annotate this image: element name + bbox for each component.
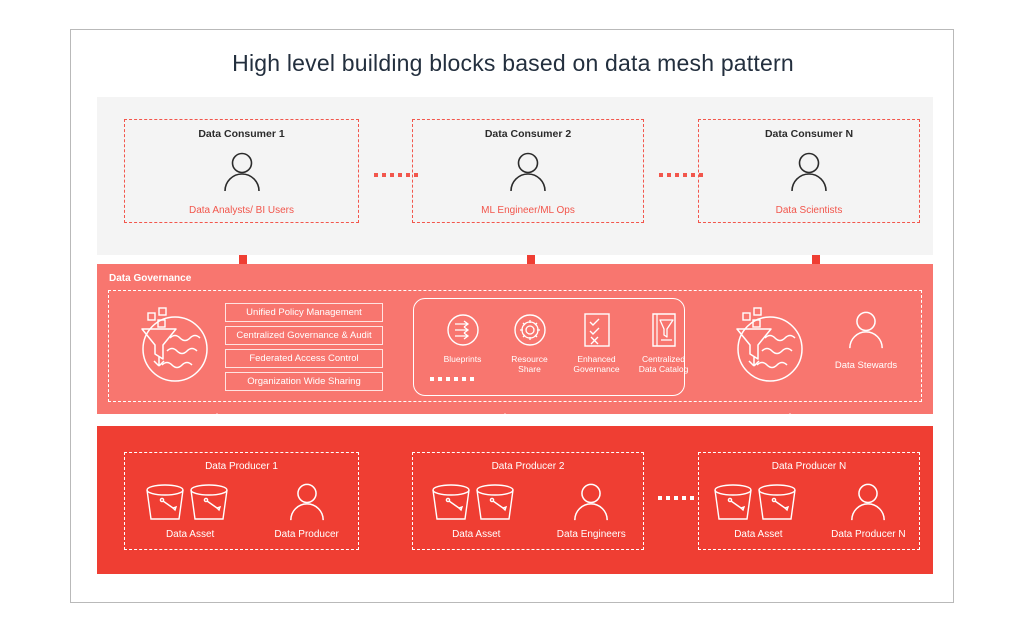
person-icon — [507, 150, 549, 194]
person-icon — [831, 481, 905, 527]
service-data-catalog[interactable]: Centralized Data Catalog — [637, 309, 690, 374]
bucket-icon — [712, 481, 804, 527]
data-lake-icon — [134, 305, 212, 387]
data-governance-band: Data Governance Unified Policy Managemen… — [97, 264, 933, 414]
dotted-connector-icon — [659, 173, 703, 177]
bucket-icon — [144, 481, 236, 527]
consumer-title: Data Consumer 2 — [413, 128, 643, 140]
data-steward-label: Data Stewards — [823, 360, 909, 371]
data-consumer-box-2[interactable]: Data Consumer 2 ML Engineer/ML Ops — [412, 119, 644, 223]
governance-inner-panel: Unified Policy Management Centralized Go… — [108, 290, 922, 402]
data-owner-label: Data Producer N — [831, 529, 905, 540]
person-icon — [221, 150, 263, 194]
data-producer-box-1[interactable]: Data Producer 1 — [124, 452, 359, 550]
person-icon — [274, 481, 338, 527]
policy-pill-list: Unified Policy Management Centralized Go… — [225, 303, 383, 395]
governance-services-card: Blueprints — [413, 298, 685, 396]
data-consumer-box-1[interactable]: Data Consumer 1 Data Analysts/ BI Users — [124, 119, 359, 223]
checklist-icon — [570, 309, 623, 351]
diagram-canvas: High level building blocks based on data… — [70, 29, 954, 603]
governance-band-title: Data Governance — [109, 273, 191, 284]
service-enhanced-governance[interactable]: Enhanced Governance — [570, 309, 623, 374]
service-blueprints[interactable]: Blueprints — [436, 309, 489, 374]
policy-pill[interactable]: Federated Access Control — [225, 349, 383, 368]
person-icon — [846, 309, 886, 351]
person-icon — [557, 481, 626, 527]
service-label: Enhanced Governance — [570, 354, 623, 374]
data-producer-band: Data Producer 1 — [97, 426, 933, 574]
data-owner-group[interactable]: Data Engineers — [557, 481, 626, 540]
policy-pill[interactable]: Centralized Governance & Audit — [225, 326, 383, 345]
dotted-more-icon — [430, 377, 474, 381]
service-label: Resource Share — [503, 354, 556, 374]
producer-title: Data Producer 1 — [125, 461, 358, 472]
gear-icon — [503, 309, 556, 351]
consumer-title: Data Consumer N — [699, 128, 919, 140]
data-producer-box-n[interactable]: Data Producer N — [698, 452, 920, 550]
consumer-label: Data Analysts/ BI Users — [125, 205, 358, 216]
consumer-title: Data Consumer 1 — [125, 128, 358, 140]
data-asset-group[interactable]: Data Asset — [712, 481, 804, 540]
producer-title: Data Producer 2 — [413, 461, 643, 472]
data-consumer-band: Data Consumer 1 Data Analysts/ BI Users … — [97, 97, 933, 255]
consumer-label: ML Engineer/ML Ops — [413, 205, 643, 216]
person-icon — [788, 150, 830, 194]
service-icon-row: Blueprints — [436, 309, 690, 374]
data-asset-label: Data Asset — [430, 529, 522, 540]
data-steward-group[interactable]: Data Stewards — [823, 309, 909, 371]
blueprints-icon — [436, 309, 489, 351]
data-asset-label: Data Asset — [712, 529, 804, 540]
dotted-connector-icon — [374, 173, 418, 177]
data-producer-box-2[interactable]: Data Producer 2 — [412, 452, 644, 550]
service-label: Blueprints — [436, 354, 489, 364]
policy-pill[interactable]: Organization Wide Sharing — [225, 372, 383, 391]
producer-title: Data Producer N — [699, 461, 919, 472]
data-owner-label: Data Engineers — [557, 529, 626, 540]
data-catalog-icon — [637, 309, 690, 351]
bucket-icon — [430, 481, 522, 527]
data-owner-label: Data Producer — [274, 529, 338, 540]
data-consumer-box-n[interactable]: Data Consumer N Data Scientists — [698, 119, 920, 223]
data-asset-label: Data Asset — [144, 529, 236, 540]
consumer-label: Data Scientists — [699, 205, 919, 216]
policy-pill[interactable]: Unified Policy Management — [225, 303, 383, 322]
data-owner-group[interactable]: Data Producer N — [831, 481, 905, 540]
data-asset-group[interactable]: Data Asset — [144, 481, 236, 540]
service-resource-share[interactable]: Resource Share — [503, 309, 556, 374]
dotted-connector-icon — [658, 496, 694, 500]
data-lake-icon — [729, 305, 807, 387]
data-owner-group[interactable]: Data Producer — [274, 481, 338, 540]
service-label: Centralized Data Catalog — [637, 354, 690, 374]
data-asset-group[interactable]: Data Asset — [430, 481, 522, 540]
page-title: High level building blocks based on data… — [71, 50, 955, 77]
